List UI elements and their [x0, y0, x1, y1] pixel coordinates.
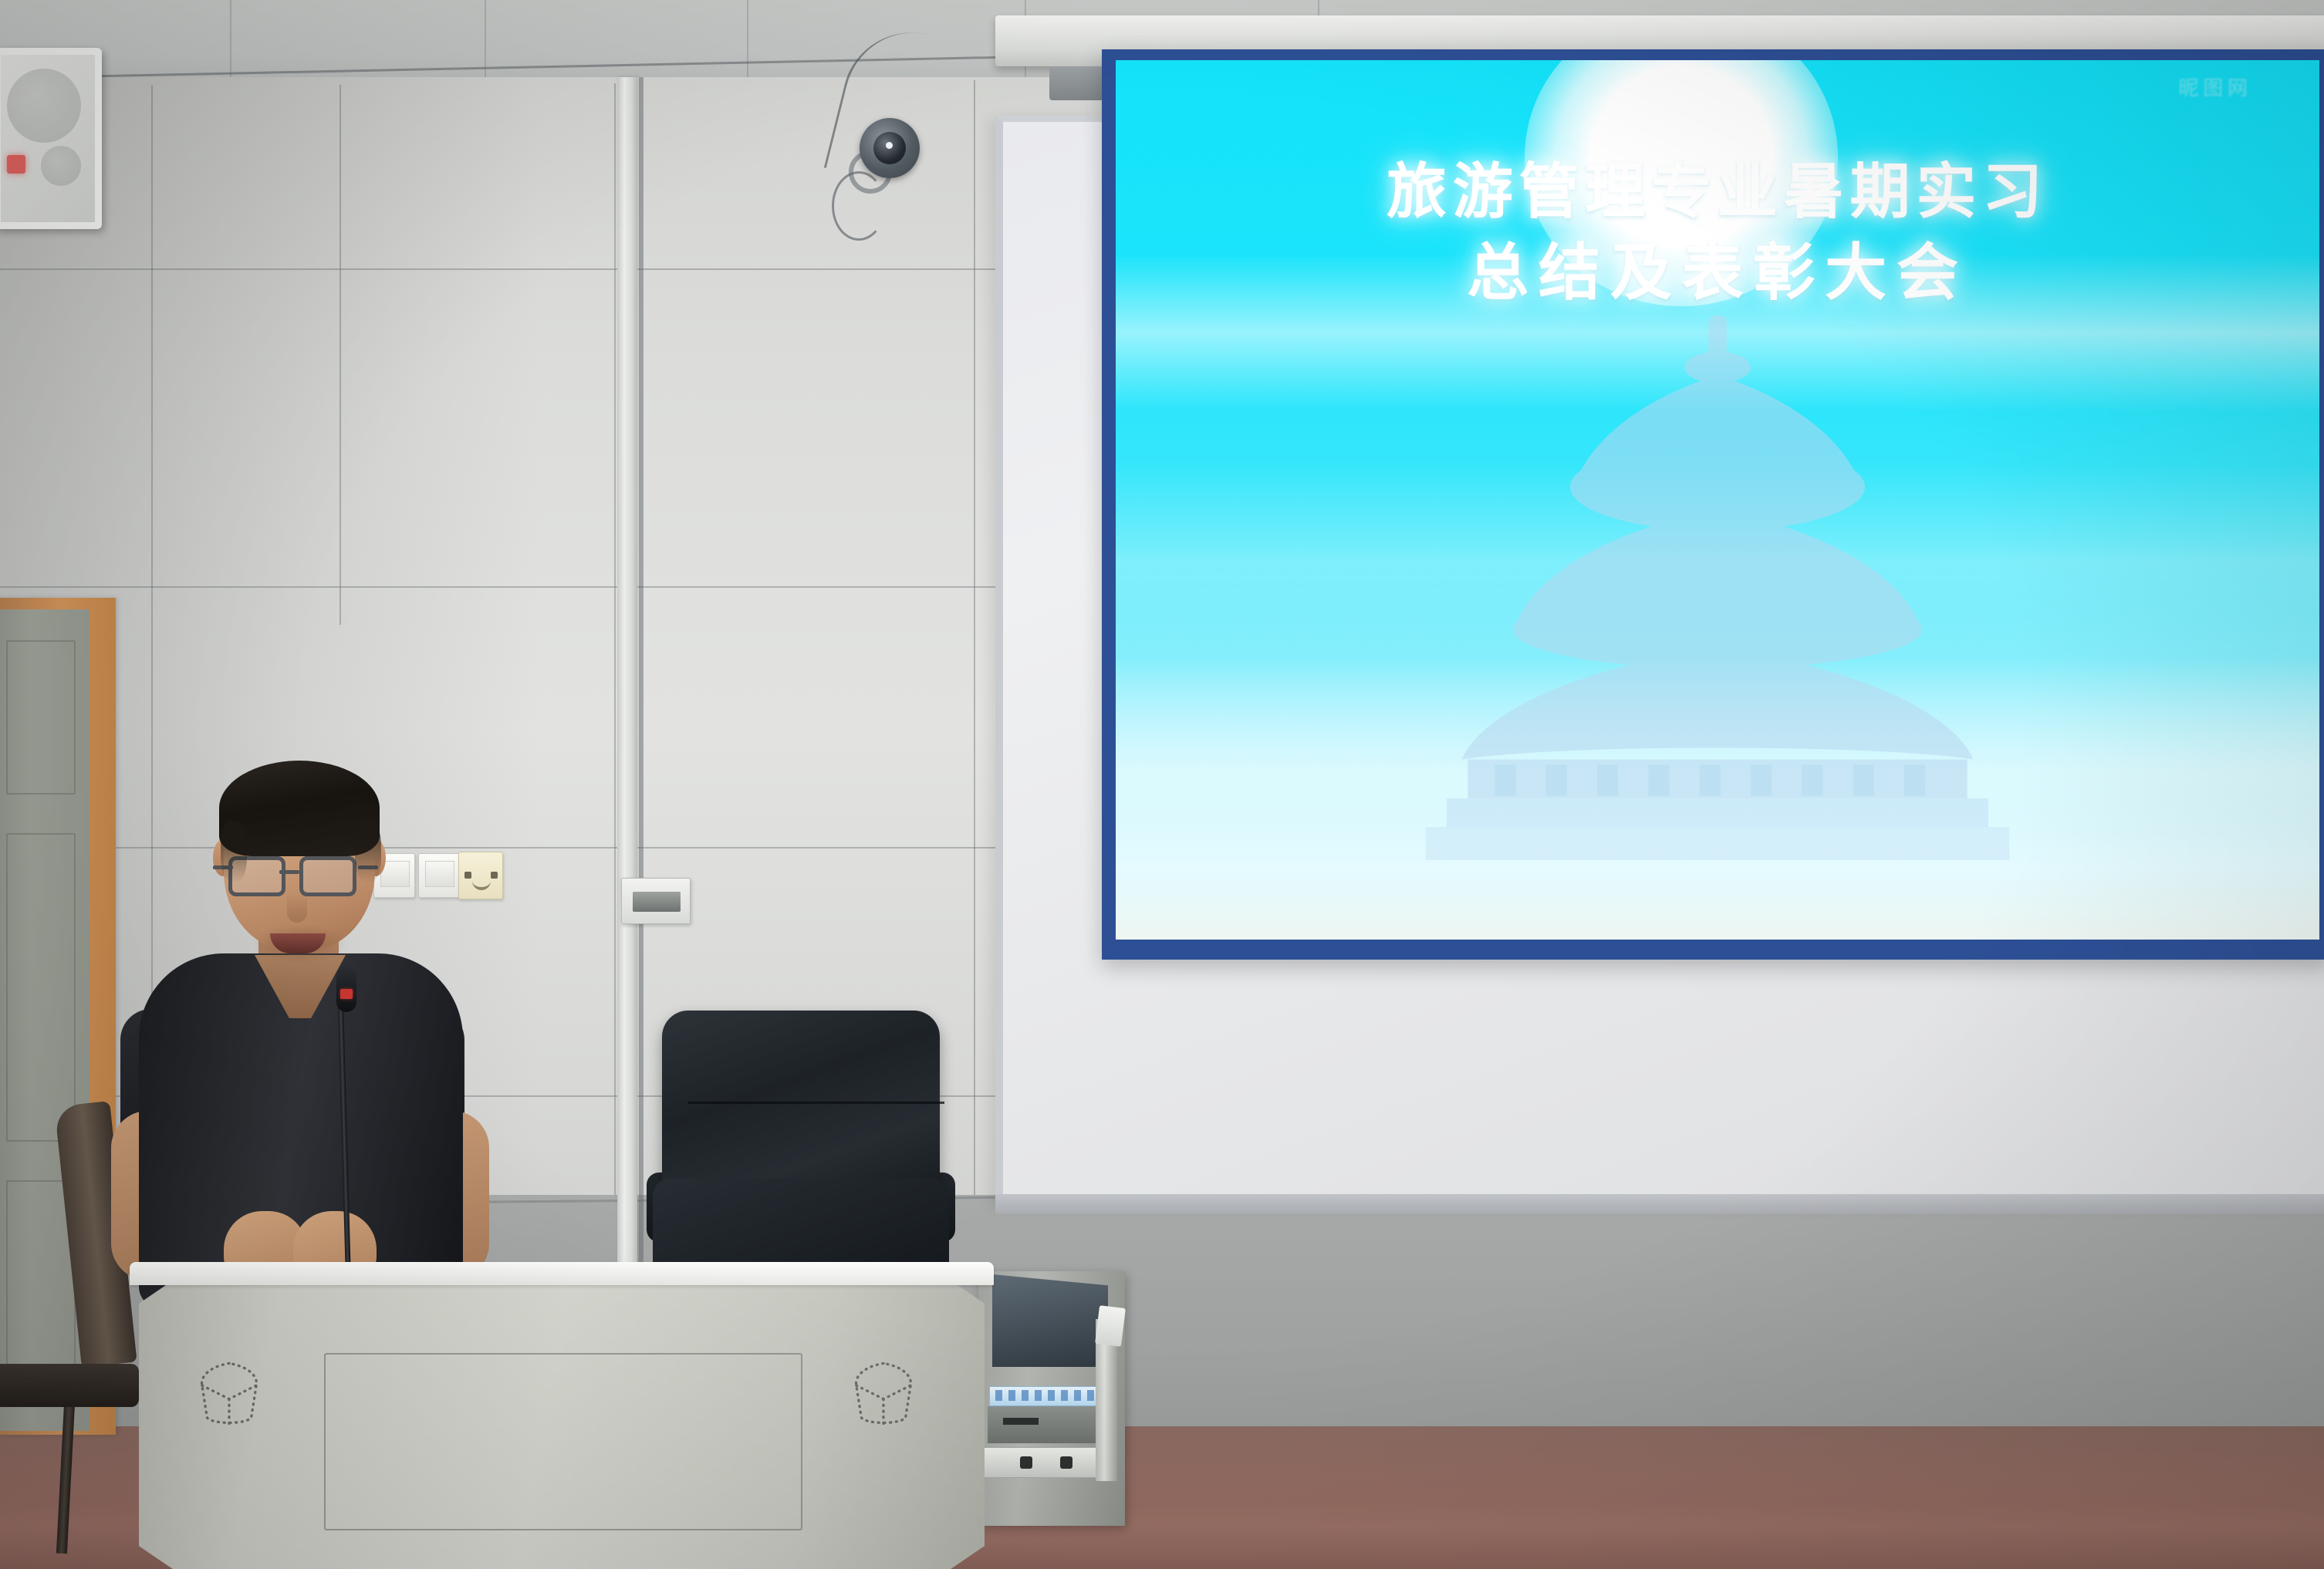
wall-joint — [974, 80, 975, 1237]
chair-seam — [688, 1102, 944, 1104]
slide-title-line2: 总结及表彰大会 — [1116, 223, 2319, 312]
projection-screen: 旅游管理专业暑期实习 总结及表彰大会 昵图网 — [1102, 49, 2324, 960]
office-chair[interactable] — [647, 1011, 955, 1288]
speaker-power-led — [7, 155, 25, 174]
wall-joint — [614, 83, 616, 1333]
door-panel — [6, 640, 76, 795]
podium-front-panel — [324, 1353, 802, 1530]
speaker-cone-icon — [7, 69, 81, 143]
av-device-body — [988, 1406, 1105, 1443]
side-chair-seat — [0, 1364, 139, 1407]
podium-emblem-left-icon — [187, 1351, 272, 1436]
slide-watermark: 昵图网 — [2178, 73, 2251, 101]
camera-lens-glint — [886, 142, 893, 149]
chair-backrest — [662, 1011, 940, 1203]
nose — [287, 892, 307, 923]
glasses-bridge — [279, 870, 299, 874]
wall-speaker — [0, 48, 102, 229]
wall-junction-box — [621, 878, 691, 924]
hair-sideburn-left — [221, 821, 247, 882]
podium-body — [139, 1281, 985, 1569]
wall-conduit-line — [639, 77, 643, 1327]
av-device-knob — [1020, 1456, 1032, 1469]
hair-sideburn-right — [355, 821, 381, 882]
door-panel — [6, 833, 76, 1142]
classroom-photo-scene: 旅游管理专业暑期实习 总结及表彰大会 昵图网 — [0, 0, 2324, 1569]
av-device-bottom-unit — [983, 1447, 1110, 1478]
wall-conduit-pipe — [617, 77, 637, 1327]
microphone-indicator-light — [340, 989, 353, 999]
podium-emblem-right-icon — [841, 1351, 926, 1436]
presenter — [116, 741, 548, 1296]
podium-top-surface — [130, 1262, 994, 1285]
speaker-podium — [130, 1262, 994, 1569]
wall-joint — [339, 85, 341, 625]
projected-slide: 旅游管理专业暑期实习 总结及表彰大会 昵图网 — [1116, 60, 2319, 940]
glasses-lens-right — [299, 856, 356, 896]
rack-top-plate — [1095, 1305, 1126, 1347]
av-device-slot — [1003, 1418, 1039, 1425]
temple-of-heaven-silhouette — [1417, 315, 2018, 861]
slide-title-line1: 旅游管理专业暑期实习 — [1116, 143, 2319, 230]
av-device-knob — [1060, 1456, 1072, 1469]
wall-joint — [0, 268, 1003, 270]
rack-open-shelf — [992, 1274, 1108, 1367]
wall-joint — [0, 586, 1003, 588]
device-label-text — [995, 1390, 1096, 1401]
junction-box-socket — [633, 892, 681, 912]
whiteboard-tray — [995, 1194, 2324, 1214]
speaker-tweeter-icon — [41, 146, 81, 186]
